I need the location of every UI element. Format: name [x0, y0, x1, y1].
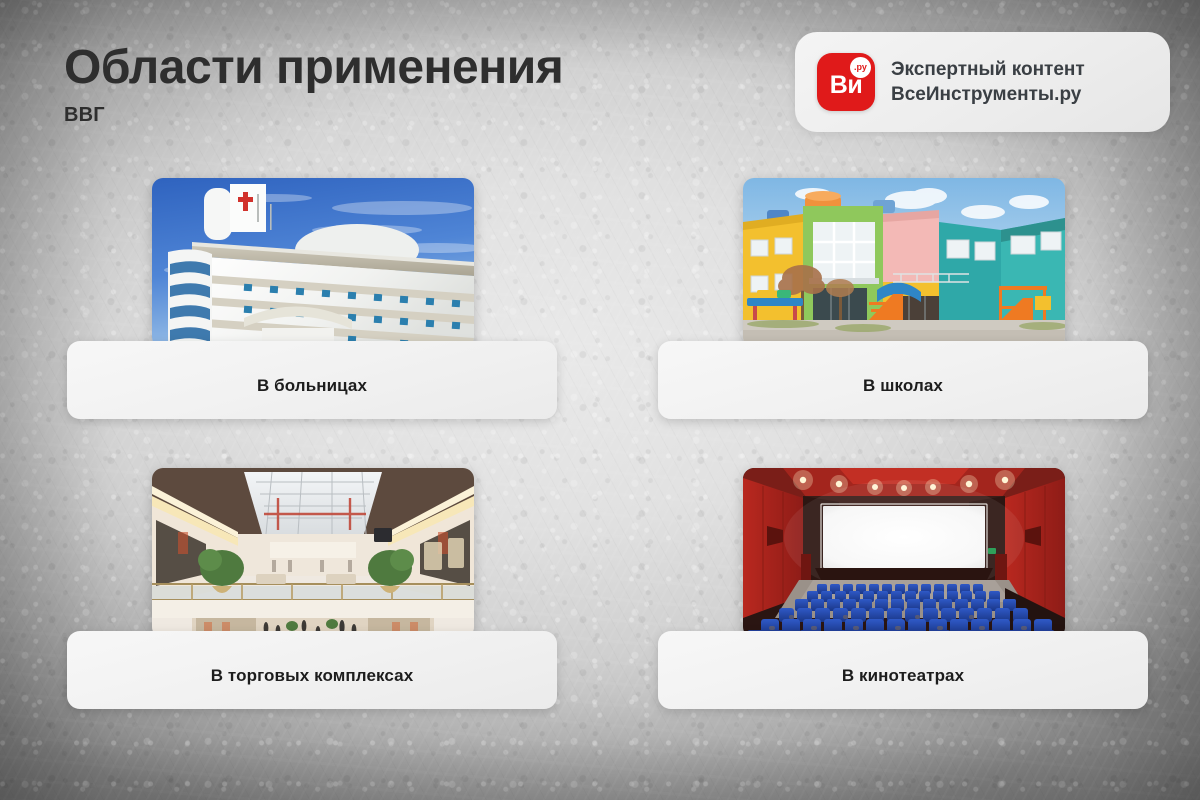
card-label-mall: В торговых комплексах — [211, 666, 414, 686]
shopping-mall-photo — [152, 468, 474, 638]
card-cinema[interactable]: В кинотеатрах — [600, 290, 1200, 730]
card-mall[interactable]: В торговых комплексах — [0, 290, 600, 730]
card-label-panel-cinema: В кинотеатрах — [658, 631, 1148, 709]
page-title: Области применения — [64, 44, 563, 92]
brand-tagline: Экспертный контент — [891, 59, 1085, 81]
card-label-panel-mall: В торговых комплексах — [67, 631, 557, 709]
header: Области применения ВВГ — [64, 44, 563, 127]
vseinstrumenty-logo-icon: Ви .ру — [817, 53, 875, 111]
brand-badge[interactable]: Ви .ру Экспертный контент ВсеИнструменты… — [795, 32, 1170, 132]
cinema-hall-photo — [743, 468, 1065, 638]
brand-text: Экспертный контент ВсеИнструменты.ру — [891, 59, 1085, 106]
page-subtitle: ВВГ — [64, 104, 563, 127]
logo-ru-badge-icon: .ру — [850, 57, 871, 78]
brand-name: ВсеИнструменты.ру — [891, 84, 1085, 106]
card-label-cinema: В кинотеатрах — [842, 666, 964, 686]
